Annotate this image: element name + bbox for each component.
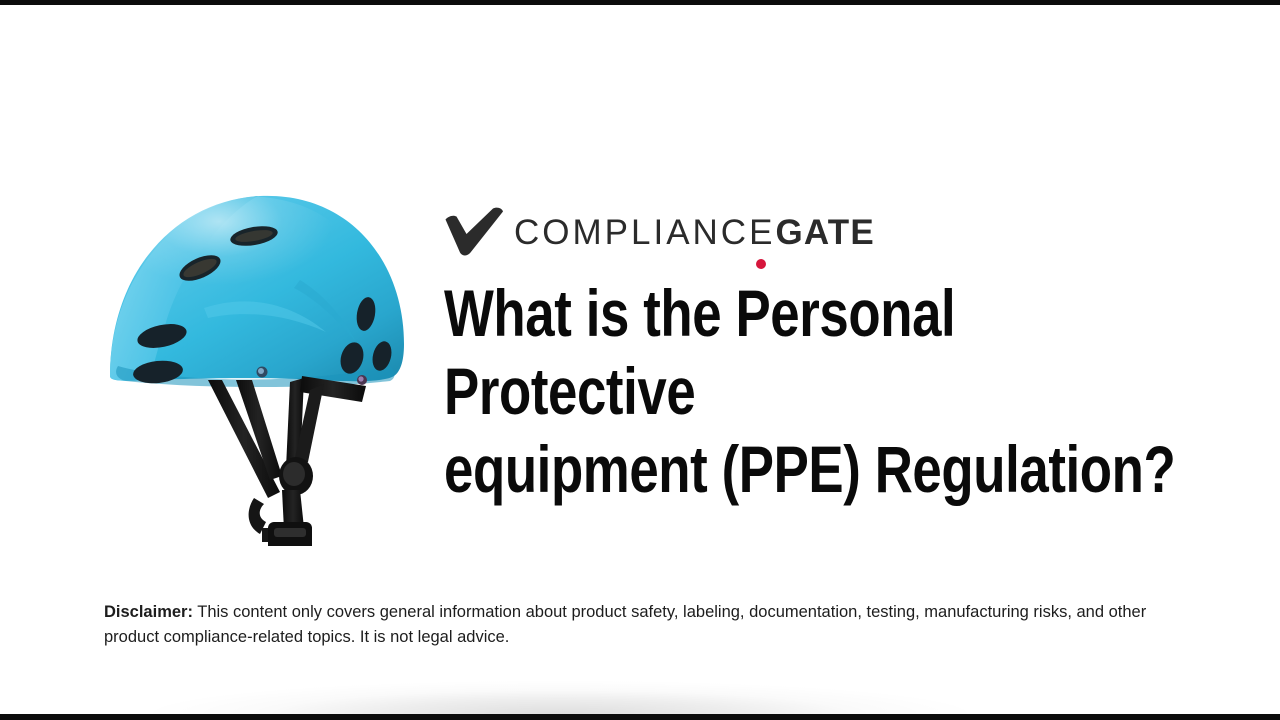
helmet-rivet-shine	[258, 368, 264, 374]
strap-divider-center	[283, 462, 305, 486]
floor-shadow	[0, 668, 1280, 714]
slide-canvas: COMPLIANCEGATE What is the Personal Prot…	[0, 0, 1280, 720]
bottom-letterbox-bar	[0, 714, 1280, 720]
brand-name-bold: GATE	[775, 213, 874, 252]
page-title: What is the Personal Protective equipmen…	[444, 274, 1212, 508]
top-letterbox-bar	[0, 0, 1280, 5]
checkmark-icon	[444, 207, 504, 257]
product-helmet-image	[104, 176, 414, 546]
strap-buckle-slot	[274, 528, 306, 537]
brand-name-light: COMPLIANCE	[514, 213, 775, 252]
helmet-svg	[104, 176, 414, 546]
page-title-line-2: equipment (PPE) Regulation?	[444, 430, 1212, 508]
helmet-straps	[208, 376, 366, 546]
disclaimer-label: Disclaimer:	[104, 603, 193, 621]
brand-accent-dot	[756, 259, 766, 269]
brand-wordmark: COMPLIANCEGATE	[514, 215, 875, 250]
helmet-rivet-shine	[358, 376, 363, 381]
page-title-line-1: What is the Personal Protective	[444, 274, 1212, 430]
disclaimer-text: Disclaimer: This content only covers gen…	[104, 600, 1182, 650]
brand-logo: COMPLIANCEGATE	[444, 205, 875, 259]
disclaimer-body: This content only covers general informa…	[104, 603, 1146, 646]
